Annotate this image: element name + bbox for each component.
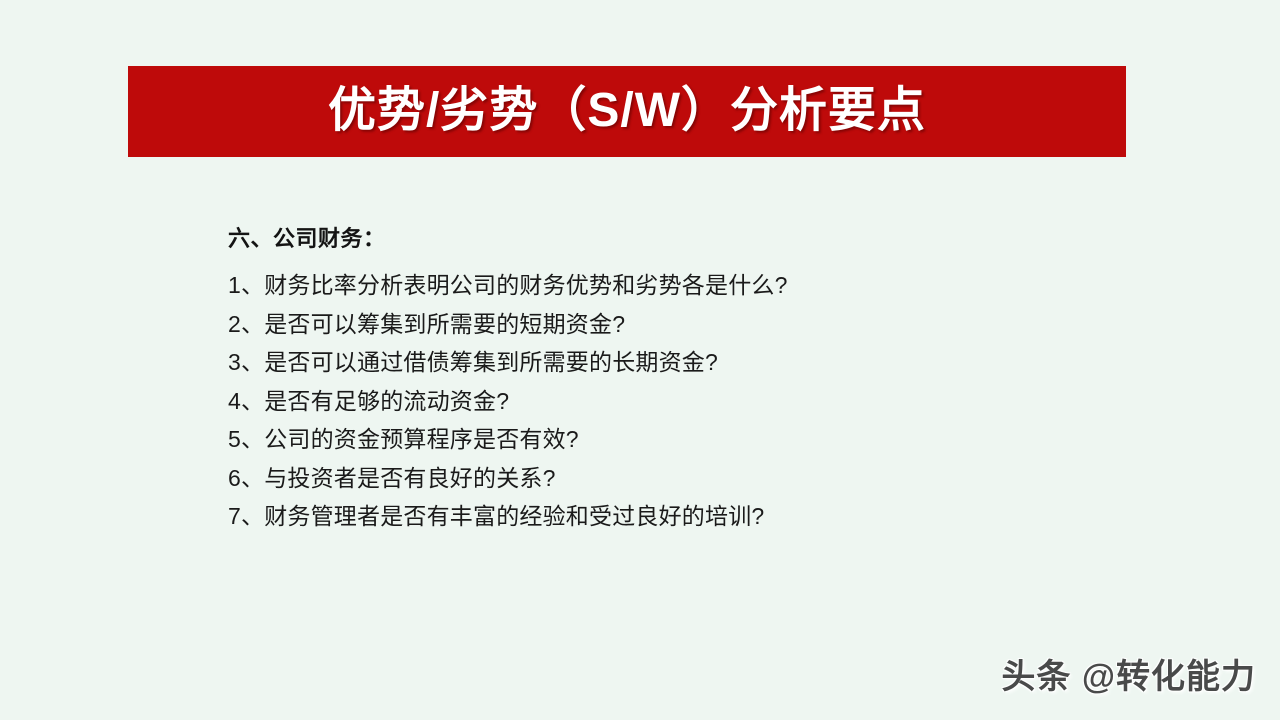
slide-canvas: 优势/劣势（S/W）分析要点 六、公司财务： 1、财务比率分析表明公司的财务优势… bbox=[0, 0, 1280, 720]
content-body: 六、公司财务： 1、财务比率分析表明公司的财务优势和劣势各是什么? 2、是否可以… bbox=[228, 226, 1088, 536]
page-title: 优势/劣势（S/W）分析要点 bbox=[328, 87, 926, 135]
list-item: 5、公司的资金预算程序是否有效? bbox=[228, 420, 1088, 459]
question-list: 1、财务比率分析表明公司的财务优势和劣势各是什么? 2、是否可以筹集到所需要的短… bbox=[228, 266, 1088, 536]
list-item: 7、财务管理者是否有丰富的经验和受过良好的培训? bbox=[228, 497, 1088, 536]
list-item: 2、是否可以筹集到所需要的短期资金? bbox=[228, 305, 1088, 344]
title-banner: 优势/劣势（S/W）分析要点 bbox=[128, 66, 1126, 157]
list-item: 3、是否可以通过借债筹集到所需要的长期资金? bbox=[228, 343, 1088, 382]
list-item: 6、与投资者是否有良好的关系? bbox=[228, 459, 1088, 498]
watermark: 头条 @转化能力 bbox=[1001, 649, 1256, 698]
list-item: 4、是否有足够的流动资金? bbox=[228, 382, 1088, 421]
list-item: 1、财务比率分析表明公司的财务优势和劣势各是什么? bbox=[228, 266, 1088, 305]
section-heading: 六、公司财务： bbox=[228, 226, 1088, 252]
